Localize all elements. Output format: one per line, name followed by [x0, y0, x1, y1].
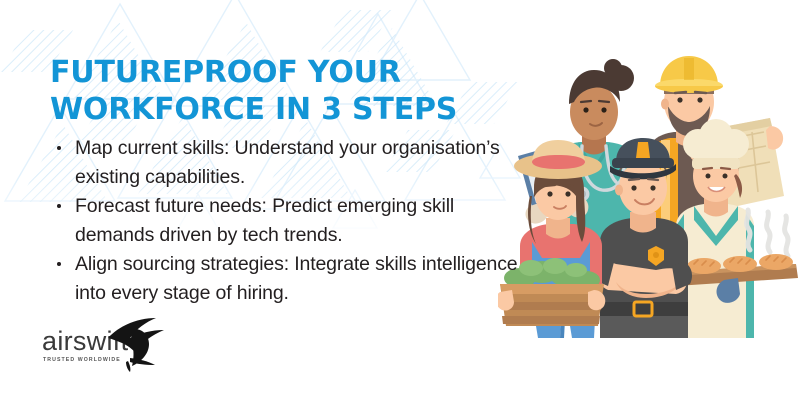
logo-tagline-text: TRUSTED WORLDWIDE — [43, 357, 121, 363]
list-item-text: Map current skills: Understand your orga… — [75, 137, 500, 188]
slide-canvas: FUTUREPROOF YOUR WORKFORCE IN 3 STEPS Ma… — [0, 0, 800, 400]
steps-list: Map current skills: Understand your orga… — [52, 134, 522, 308]
page-title: FUTUREPROOF YOUR WORKFORCE IN 3 STEPS — [50, 54, 520, 128]
page-title-line-1: FUTUREPROOF YOUR — [50, 54, 520, 91]
diverse-workers-group-illustration — [498, 46, 800, 338]
list-item-text: Forecast future needs: Predict emerging … — [75, 195, 454, 246]
airswift-logo: airswift TRUSTED WORLDWIDE — [42, 316, 192, 372]
list-item-text: Align sourcing strategies: Integrate ski… — [75, 253, 518, 304]
list-item: Forecast future needs: Predict emerging … — [52, 192, 522, 249]
bullet-dot-icon — [57, 204, 61, 208]
bullet-dot-icon — [57, 262, 61, 266]
bullet-dot-icon — [57, 146, 61, 150]
page-title-line-2: WORKFORCE IN 3 STEPS — [50, 91, 520, 128]
list-item: Align sourcing strategies: Integrate ski… — [52, 250, 522, 307]
list-item: Map current skills: Understand your orga… — [52, 134, 522, 191]
logo-wordmark-text: airswift — [42, 326, 129, 356]
